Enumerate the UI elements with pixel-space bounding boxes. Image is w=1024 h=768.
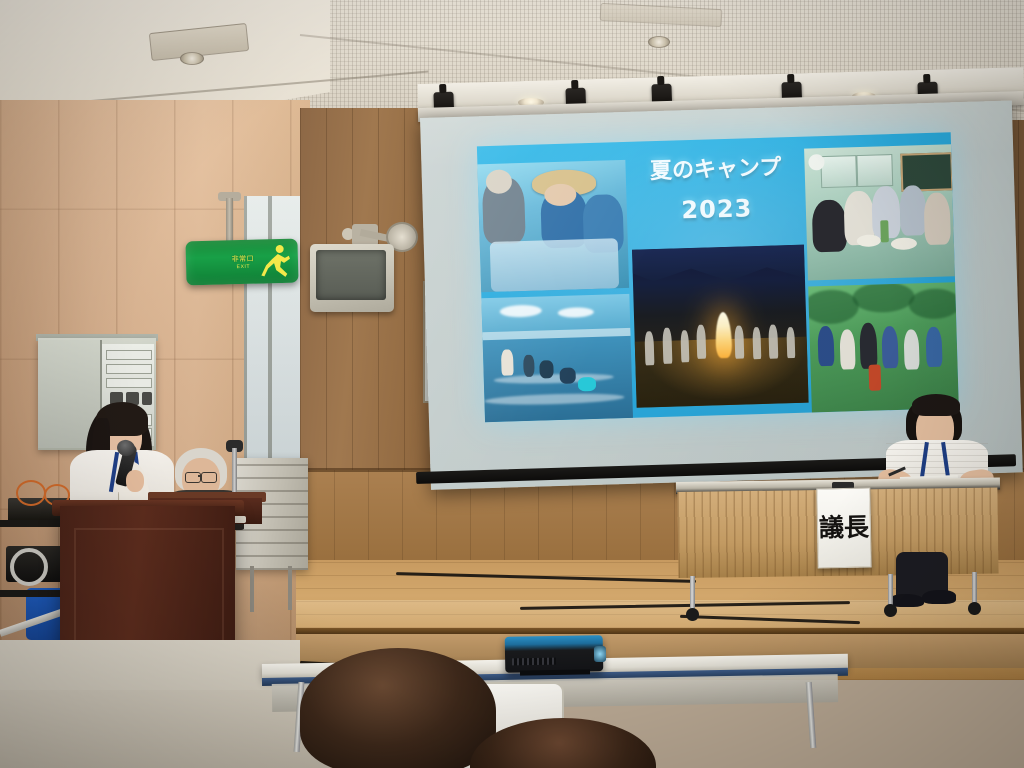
photo-meal <box>804 144 955 280</box>
sprinkler-icon <box>180 52 204 65</box>
photo-field <box>808 282 959 412</box>
table-caster <box>884 604 897 617</box>
table-caster <box>968 602 981 615</box>
table-leg <box>690 576 695 612</box>
projector-lens <box>594 646 606 662</box>
av-rack-row <box>106 350 152 360</box>
projector <box>505 635 604 673</box>
av-rack-row <box>106 364 152 374</box>
emergency-exit-sign: 非常口 EXIT <box>185 239 298 286</box>
exit-sign-stem <box>226 198 233 242</box>
exit-sign-text-ja: 非常口 <box>232 254 254 265</box>
chairperson-sign-text: 議長 <box>819 514 869 541</box>
exit-sign-text-en: EXIT <box>237 264 251 270</box>
chairperson-shoe <box>922 590 956 604</box>
speaker-hand <box>126 470 144 492</box>
running-person-icon <box>258 243 293 280</box>
slide-title: 夏のキャンプ <box>627 155 804 187</box>
chairperson-sign: 議長 <box>816 488 871 569</box>
table-leg <box>972 572 977 606</box>
coiled-cable <box>16 480 46 506</box>
chairperson-hair-fringe <box>912 394 960 416</box>
slide-year: 2023 <box>628 193 805 226</box>
photo-campfire <box>632 245 809 408</box>
eyeglasses-bridge <box>198 475 202 477</box>
table-leg <box>888 574 893 608</box>
audience-head-front-left <box>300 648 496 768</box>
eyeglasses-icon <box>185 472 201 483</box>
chair-leg <box>250 566 254 612</box>
chair-leg <box>288 566 292 610</box>
eyeglasses-icon <box>201 472 217 483</box>
sprinkler-icon <box>648 36 670 48</box>
photo-kayak <box>477 160 629 292</box>
projected-slide: 夏のキャンプ 2023 <box>477 132 959 422</box>
cable-reel <box>10 548 48 586</box>
projector-vent <box>512 658 556 666</box>
meeting-hall-photo: 非常口 EXIT <box>0 0 1024 768</box>
photo-beach <box>481 294 633 422</box>
pa-speaker-grille <box>316 250 386 300</box>
table-caster <box>686 608 699 621</box>
av-breaker-switch[interactable] <box>142 392 152 405</box>
av-rack-row <box>106 378 152 388</box>
